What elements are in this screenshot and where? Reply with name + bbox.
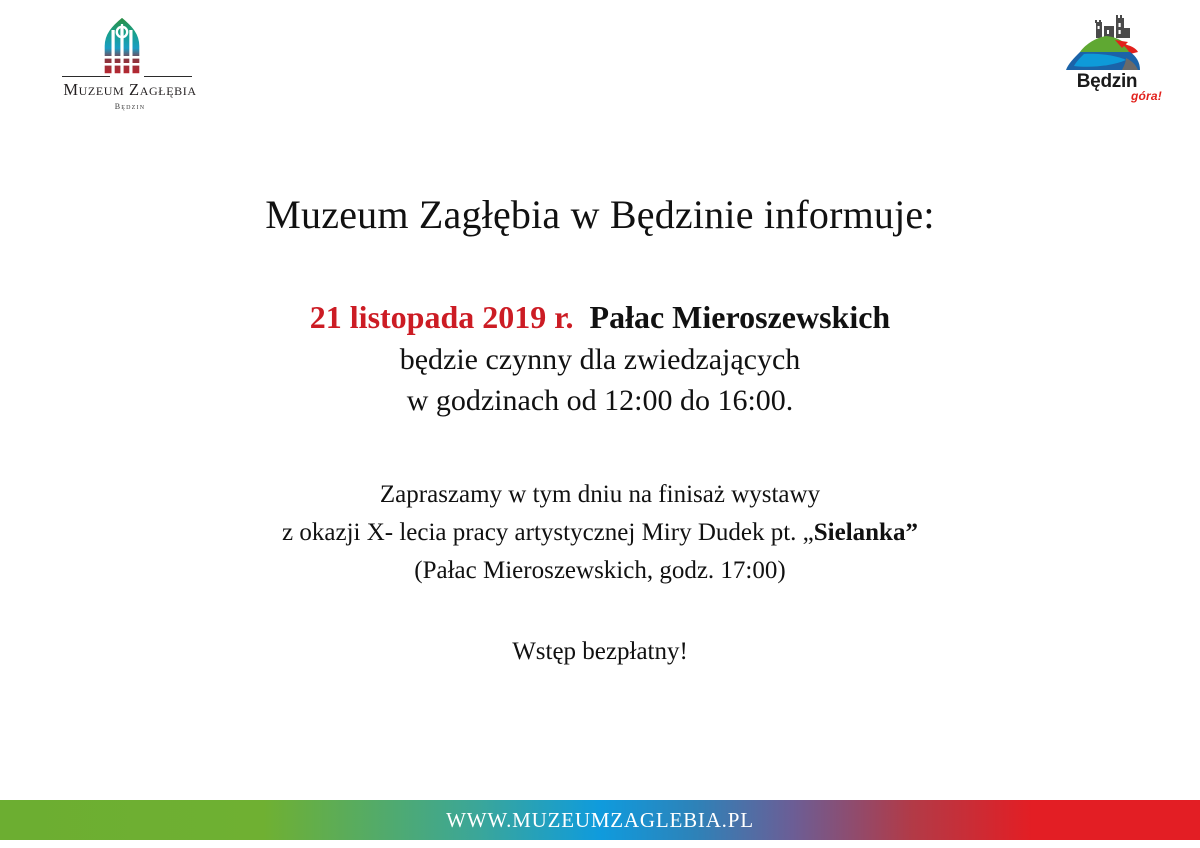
gothic-arch-window-icon	[98, 16, 146, 78]
museum-logo-divider	[62, 76, 192, 78]
opening-info-block: 21 listopada 2019 r. Pałac Mieroszewskic…	[0, 296, 1200, 422]
invitation-block: Zapraszamy w tym dniu na finisaż wystawy…	[0, 476, 1200, 590]
city-logo: Będzin góra!	[1052, 14, 1162, 106]
museum-logo-subtitle: Będzin	[20, 102, 240, 111]
event-date: 21 listopada 2019 r.	[310, 299, 574, 335]
announcement-content: Muzeum Zagłębia w Będzinie informuje: 21…	[0, 190, 1200, 669]
invitation-line-2: z okazji X- lecia pracy artystycznej Mir…	[0, 514, 1200, 552]
museum-logo: Muzeum Zagłębia Będzin	[20, 14, 240, 114]
headline: Muzeum Zagłębia w Będzinie informuje:	[0, 190, 1200, 240]
exhibition-title: Sielanka	[814, 519, 906, 546]
museum-logo-name: Muzeum Zagłębia	[20, 80, 240, 100]
footer-website[interactable]: www.muzeumzaglebia.pl	[0, 800, 1200, 840]
venue-name: Pałac Mieroszewskich	[590, 299, 891, 335]
footer-bar: www.muzeumzaglebia.pl	[0, 800, 1200, 840]
opening-hours-line: w godzinach od 12:00 do 16:00.	[0, 380, 1200, 421]
invitation-suffix: ”	[905, 519, 918, 546]
city-logo-slogan: góra!	[1070, 90, 1162, 102]
open-status-line: będzie czynny dla zwiedzających	[0, 339, 1200, 380]
invitation-prefix: z okazji X- lecia pracy artystycznej Mir…	[282, 519, 814, 546]
bedzin-castle-hill-icon	[1060, 14, 1152, 76]
poster-canvas: Muzeum Zagłębia Będzin	[0, 0, 1200, 848]
date-venue-line: 21 listopada 2019 r. Pałac Mieroszewskic…	[0, 296, 1200, 339]
free-entry-line: Wstęp bezpłatny!	[0, 634, 1200, 669]
invitation-line-3: (Pałac Mieroszewskich, godz. 17:00)	[0, 552, 1200, 590]
invitation-line-1: Zapraszamy w tym dniu na finisaż wystawy	[0, 476, 1200, 514]
